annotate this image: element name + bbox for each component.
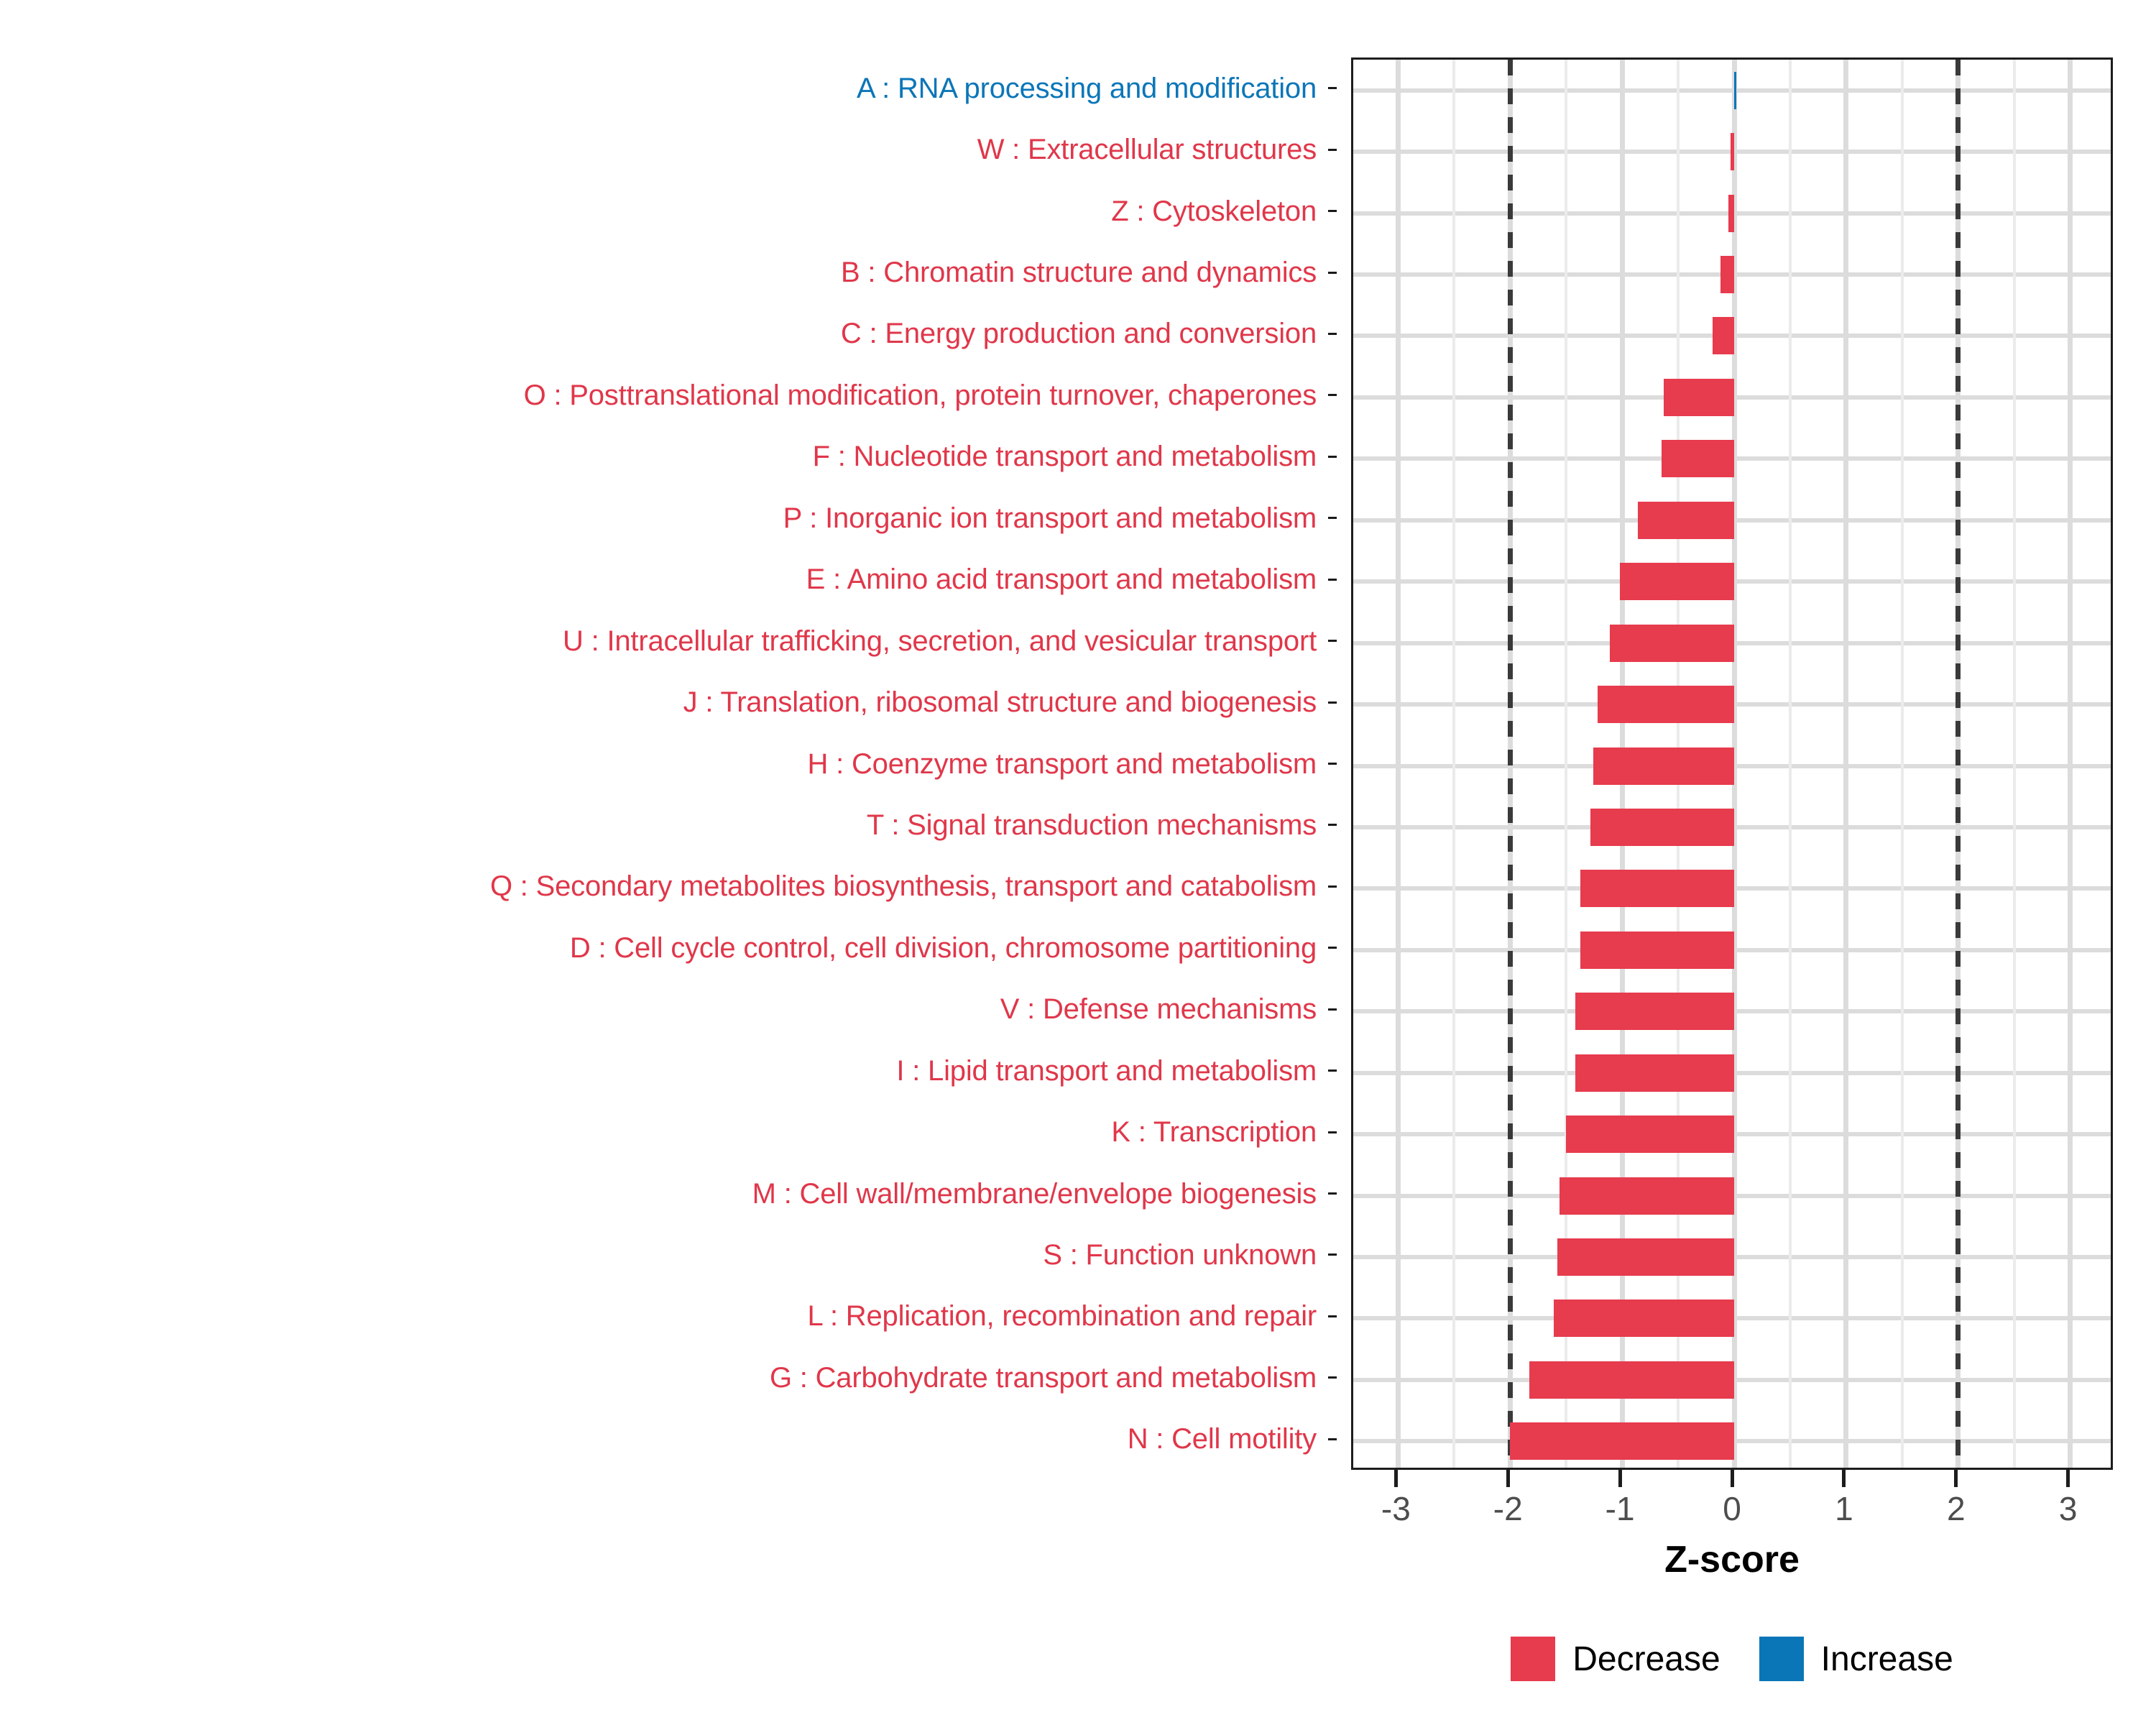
bar [1713, 317, 1734, 354]
category-label: P : Inorganic ion transport and metaboli… [783, 502, 1317, 534]
category-label: S : Function unknown [1043, 1239, 1317, 1271]
gridline-vertical [1843, 60, 1848, 1468]
bar [1590, 809, 1734, 846]
y-axis-tick [1328, 1192, 1337, 1195]
reference-line [1508, 60, 1513, 1468]
category-label: D : Cell cycle control, cell division, c… [570, 932, 1317, 964]
y-axis-tick [1328, 640, 1337, 642]
category-label: E : Amino acid transport and metabolism [806, 563, 1317, 595]
x-axis-tick [1506, 1470, 1510, 1487]
y-axis-tick [1328, 824, 1337, 826]
bar [1593, 747, 1734, 785]
bar [1734, 72, 1736, 109]
category-label: B : Chromatin structure and dynamics [841, 257, 1317, 288]
bar [1557, 1238, 1734, 1276]
bar [1728, 195, 1734, 232]
bar [1580, 870, 1734, 907]
category-label: V : Defense mechanisms [1000, 993, 1317, 1025]
gridline-vertical [1396, 60, 1401, 1468]
legend-swatch [1511, 1637, 1555, 1681]
bar [1664, 379, 1734, 416]
category-label: A : RNA processing and modification [857, 73, 1317, 104]
legend-swatch [1759, 1637, 1804, 1681]
category-label: Z : Cytoskeleton [1111, 195, 1317, 227]
legend-label: Increase [1821, 1639, 1953, 1679]
category-label: T : Signal transduction mechanisms [867, 809, 1317, 841]
x-axis-tick [1618, 1470, 1622, 1487]
y-axis-tick [1328, 456, 1337, 458]
bar [1720, 256, 1734, 293]
y-axis-tick [1328, 149, 1337, 151]
legend-entry[interactable]: Increase [1759, 1637, 1953, 1681]
y-axis-tick [1328, 579, 1337, 581]
y-axis-tick [1328, 1069, 1337, 1072]
category-label: C : Energy production and conversion [841, 318, 1317, 349]
bar [1529, 1361, 1734, 1399]
category-label: I : Lipid transport and metabolism [896, 1055, 1317, 1087]
category-label: F : Nucleotide transport and metabolism [813, 441, 1317, 472]
category-label: O : Posttranslational modification, prot… [524, 379, 1317, 411]
y-axis-tick [1328, 1376, 1337, 1379]
category-label: L : Replication, recombination and repai… [808, 1300, 1317, 1332]
legend-label: Decrease [1572, 1639, 1720, 1679]
x-axis-tick [1842, 1470, 1846, 1487]
y-axis-tick [1328, 1008, 1337, 1011]
bar [1575, 993, 1734, 1030]
y-axis-tick [1328, 1253, 1337, 1256]
category-label: H : Coenzyme transport and metabolism [808, 748, 1317, 780]
y-axis-tick [1328, 1315, 1337, 1317]
x-axis-tick-label: 3 [2025, 1489, 2111, 1529]
category-label-column: A : RNA processing and modificationW : E… [0, 57, 1337, 1466]
y-axis-tick [1328, 947, 1337, 949]
x-axis-tick-label: -3 [1353, 1489, 1439, 1529]
gridline-vertical-minor [1789, 60, 1792, 1468]
bar [1598, 686, 1734, 723]
x-axis-tick-label: 2 [1913, 1489, 1999, 1529]
plot-panel [1351, 57, 2113, 1470]
legend: DecreaseIncrease [1351, 1630, 2113, 1688]
y-axis-tick [1328, 1131, 1337, 1133]
x-axis-tick-label: -1 [1577, 1489, 1663, 1529]
bar [1575, 1054, 1734, 1092]
bar [1566, 1115, 1734, 1153]
x-axis-tick [2066, 1470, 2070, 1487]
bar [1620, 563, 1734, 600]
bar [1638, 502, 1734, 539]
category-label: Q : Secondary metabolites biosynthesis, … [490, 870, 1317, 902]
bar [1560, 1177, 1734, 1215]
cog-category-zscore-barchart: A : RNA processing and modificationW : E… [0, 0, 2156, 1725]
gridline-vertical-minor [1901, 60, 1904, 1468]
bar [1610, 625, 1734, 662]
y-axis-tick [1328, 210, 1337, 212]
gridline-vertical [2068, 60, 2073, 1468]
gridline-vertical-minor [2013, 60, 2016, 1468]
y-axis-tick [1328, 885, 1337, 888]
category-label: M : Cell wall/membrane/envelope biogenes… [752, 1178, 1317, 1210]
category-label: U : Intracellular trafficking, secretion… [563, 625, 1317, 657]
y-axis-tick [1328, 1438, 1337, 1440]
legend-entry[interactable]: Decrease [1511, 1637, 1720, 1681]
x-axis-title: Z-score [1351, 1538, 2113, 1581]
x-axis-tick-label: 0 [1689, 1489, 1775, 1529]
category-label: G : Carbohydrate transport and metabolis… [770, 1362, 1317, 1394]
y-axis-tick [1328, 87, 1337, 89]
category-label: W : Extracellular structures [977, 134, 1317, 165]
reference-line [1955, 60, 1961, 1468]
y-axis-tick [1328, 517, 1337, 519]
y-axis-tick [1328, 333, 1337, 335]
y-axis-tick [1328, 394, 1337, 396]
category-label: J : Translation, ribosomal structure and… [683, 686, 1317, 718]
x-axis-tick [1394, 1470, 1398, 1487]
bar [1510, 1422, 1734, 1460]
gridline-vertical-minor [1452, 60, 1455, 1468]
bar [1554, 1299, 1734, 1337]
x-axis-tick-label: -2 [1465, 1489, 1551, 1529]
bar [1580, 931, 1734, 969]
x-axis-tick-label: 1 [1801, 1489, 1887, 1529]
y-axis-tick [1328, 701, 1337, 704]
bar [1662, 440, 1734, 477]
x-axis-tick [1954, 1470, 1958, 1487]
y-axis-tick [1328, 763, 1337, 765]
category-label: N : Cell motility [1128, 1423, 1317, 1455]
category-label: K : Transcription [1111, 1116, 1317, 1148]
bar [1731, 133, 1734, 170]
y-axis-tick [1328, 272, 1337, 274]
x-axis-tick [1731, 1470, 1734, 1487]
